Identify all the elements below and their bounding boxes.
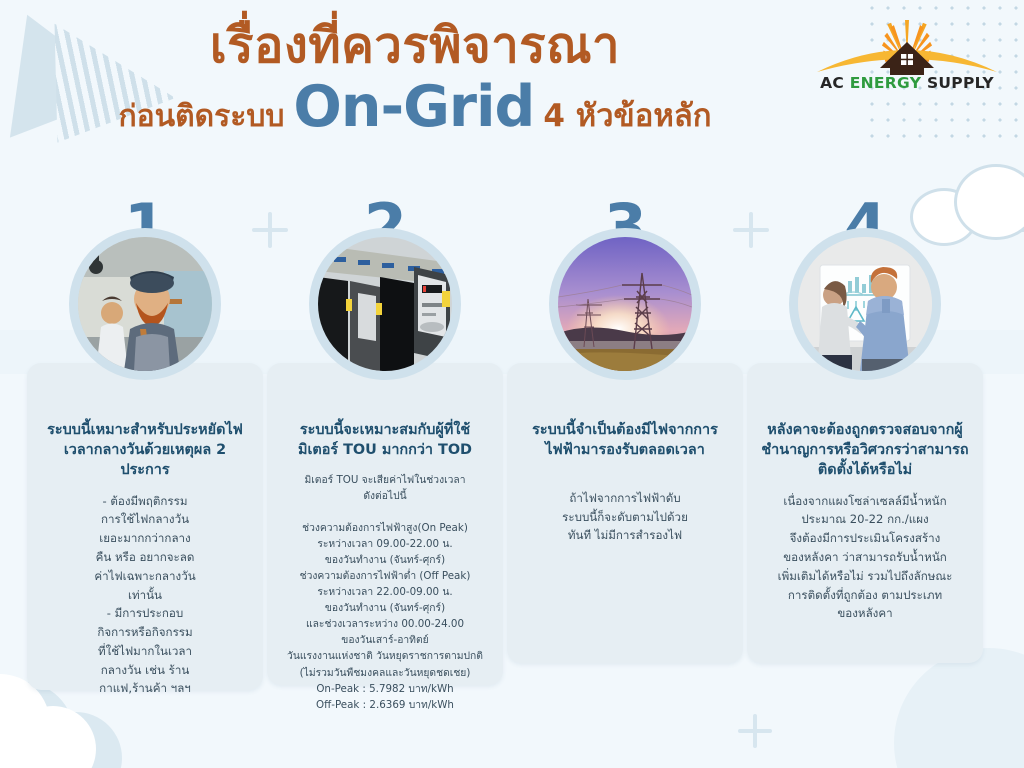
arc-decor-bottom-right xyxy=(894,648,1024,768)
power-lines-sunset-photo xyxy=(549,228,701,380)
brand-logo: AC ENERGY SUPPLY xyxy=(812,16,1002,108)
card-3-heading: ระบบนี้จำเป็นต้องมีไฟจากการไฟฟ้ามารองรับ… xyxy=(520,421,730,461)
card-4-body: เนื่องจากแผงโซล่าเซลล์มีน้ำหนัก ประมาณ 2… xyxy=(760,492,970,623)
title-ongrid-word: On-Grid xyxy=(293,79,534,136)
header: เรื่องที่ควรพิจารณา ก่อนติดระบบ On-Grid … xyxy=(0,0,1024,165)
card-3: ระบบนี้จำเป็นต้องมีไฟจากการไฟฟ้ามารองรับ… xyxy=(507,363,743,663)
plus-decor-3 xyxy=(738,714,772,748)
logo-text-ac: AC xyxy=(820,74,844,92)
title-sub-line: ก่อนติดระบบ On-Grid 4 หัวข้อหลัก xyxy=(0,79,830,140)
title-sub-suffix: 4 หัวข้อหลัก xyxy=(543,90,711,140)
title-sub-prefix: ก่อนติดระบบ xyxy=(118,93,284,140)
card-4-heading: หลังคาจะต้องถูกตรวจสอบจากผู้ชำนาญการหรือ… xyxy=(760,421,970,481)
card-4: หลังคาจะต้องถูกตรวจสอบจากผู้ชำนาญการหรือ… xyxy=(747,363,983,663)
cafe-owner-photo xyxy=(69,228,221,380)
card-2-heading: ระบบนี้จะเหมาะสมกับผู้ที่ใช้มิเตอร์ TOU … xyxy=(280,421,490,461)
electric-meters-photo xyxy=(309,228,461,380)
sun-house-logo-icon xyxy=(812,16,1002,78)
card-2: ระบบนี้จะเหมาะสมกับผู้ที่ใช้มิเตอร์ TOU … xyxy=(267,363,503,685)
card-1-heading: ระบบนี้เหมาะสำหรับประหยัดไฟเวลากลางวันด้… xyxy=(40,421,250,481)
title-main-line: เรื่องที่ควรพิจารณา xyxy=(0,18,830,75)
card-3-body: ถ้าไฟจากการไฟฟ้าดับ ระบบนี้ก็จะดับตามไปด… xyxy=(520,489,730,545)
page-title: เรื่องที่ควรพิจารณา ก่อนติดระบบ On-Grid … xyxy=(0,18,830,140)
logo-wordmark: AC ENERGY SUPPLY xyxy=(812,74,1002,92)
logo-text-supply: SUPPLY xyxy=(927,74,994,92)
engineers-whiteboard-photo xyxy=(789,228,941,380)
card-1-body: - ต้องมีพฤติกรรม การใช้ไฟกลางวัน เยอะมาก… xyxy=(40,492,250,699)
card-2-body: มิเตอร์ TOU จะเสียค่าไฟในช่วงเวลา ดังต่อ… xyxy=(280,472,490,713)
logo-text-energy: ENERGY xyxy=(850,74,922,92)
card-1: ระบบนี้เหมาะสำหรับประหยัดไฟเวลากลางวันด้… xyxy=(27,363,263,690)
infographic-canvas: เรื่องที่ควรพิจารณา ก่อนติดระบบ On-Grid … xyxy=(0,0,1024,768)
